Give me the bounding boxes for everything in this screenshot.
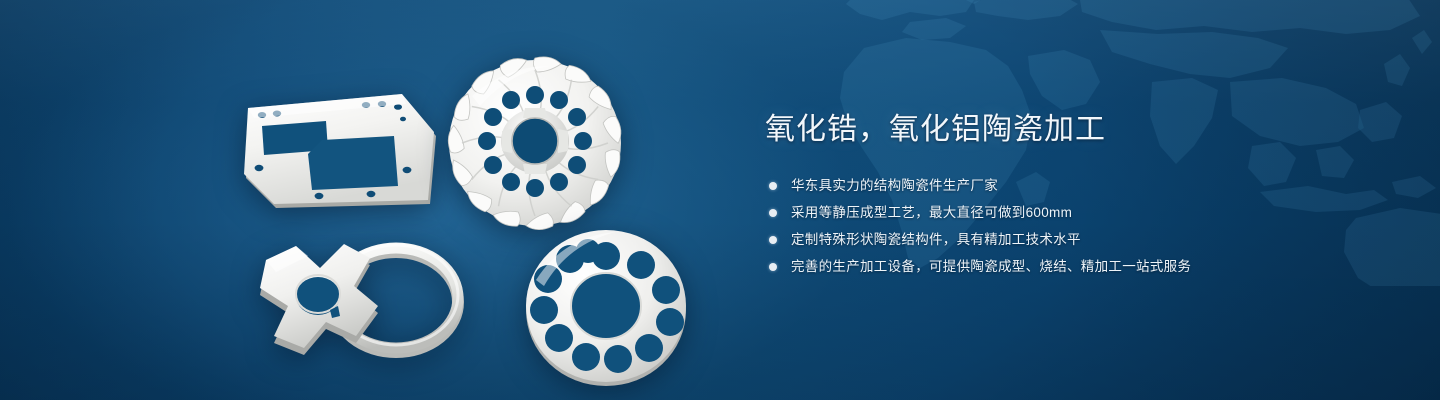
ceramic-perforated-disc xyxy=(518,224,694,390)
feature-list: 华东具实力的结构陶瓷件生产厂家 采用等静压成型工艺，最大直径可做到600mm 定… xyxy=(769,176,1385,277)
ceramic-plate-with-cutouts xyxy=(240,82,440,212)
list-item: 完善的生产加工设备，可提供陶瓷成型、烧结、精加工一站式服务 xyxy=(769,257,1385,277)
bullet-dot-icon xyxy=(769,263,777,271)
list-item: 采用等静压成型工艺，最大直径可做到600mm xyxy=(769,203,1385,223)
feature-text: 采用等静压成型工艺，最大直径可做到600mm xyxy=(791,205,1072,220)
bullet-dot-icon xyxy=(769,209,777,217)
list-item: 华东具实力的结构陶瓷件生产厂家 xyxy=(769,176,1385,196)
product-photo-group xyxy=(230,40,730,380)
bullet-dot-icon xyxy=(769,182,777,190)
list-item: 定制特殊形状陶瓷结构件，具有精加工技术水平 xyxy=(769,230,1385,250)
bullet-dot-icon xyxy=(769,236,777,244)
feature-text: 定制特殊形状陶瓷结构件，具有精加工技术水平 xyxy=(791,232,1081,247)
promo-banner: 氧化锆，氧化铝陶瓷加工 华东具实力的结构陶瓷件生产厂家 采用等静压成型工艺，最大… xyxy=(0,0,1440,400)
ceramic-cross-part-and-ring xyxy=(238,224,478,374)
banner-headline: 氧化锆，氧化铝陶瓷加工 xyxy=(765,110,1385,150)
ceramic-impeller-wheel xyxy=(442,48,628,234)
feature-text: 完善的生产加工设备，可提供陶瓷成型、烧结、精加工一站式服务 xyxy=(791,259,1191,274)
feature-text: 华东具实力的结构陶瓷件生产厂家 xyxy=(791,178,998,193)
banner-copy: 氧化锆，氧化铝陶瓷加工 华东具实力的结构陶瓷件生产厂家 采用等静压成型工艺，最大… xyxy=(765,110,1385,284)
